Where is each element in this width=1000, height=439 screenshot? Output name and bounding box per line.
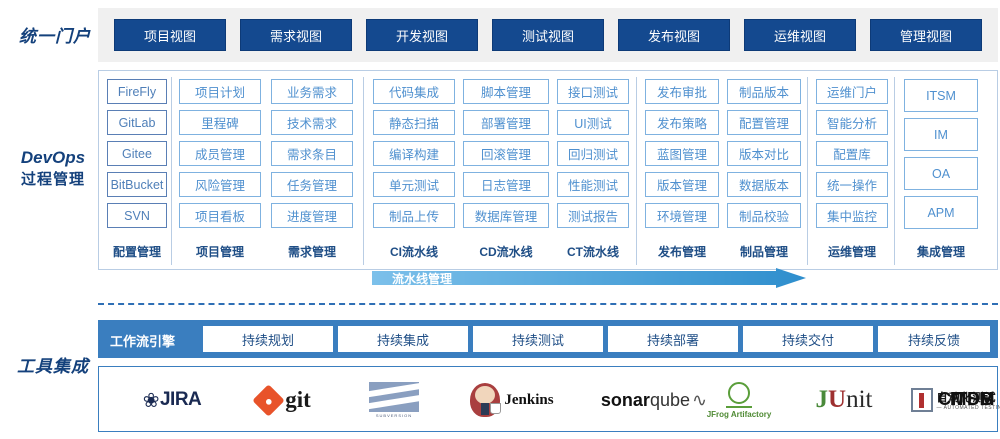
jfrog-logo-text: JFrog Artifactory: [707, 410, 772, 419]
column-title: 项目管理: [179, 243, 261, 260]
cell-item[interactable]: 风险管理: [179, 172, 261, 197]
cell-item[interactable]: IM: [904, 118, 978, 151]
cell-item[interactable]: 回滚管理: [463, 141, 549, 166]
sonarqube-logo-text-bold: sonar: [601, 390, 650, 411]
stage-continuous-testing[interactable]: 持续测试: [473, 326, 603, 352]
portal-button-management[interactable]: 管理视图: [870, 19, 982, 51]
pipeline-arrow-label: 流水线管理: [392, 270, 452, 287]
cell-item[interactable]: 脚本管理: [463, 79, 549, 104]
portal-button-development[interactable]: 开发视图: [366, 19, 478, 51]
column-title: CT流水线: [557, 243, 629, 260]
column-title: 发布管理: [645, 243, 719, 260]
cell-item[interactable]: SVN: [107, 203, 167, 228]
cell-item[interactable]: 配置库: [816, 141, 888, 166]
cell-item[interactable]: 数据库管理: [463, 203, 549, 228]
cell-item[interactable]: 版本对比: [727, 141, 801, 166]
cell-item[interactable]: 编译构建: [373, 141, 455, 166]
cell-item[interactable]: 部署管理: [463, 110, 549, 135]
column-title: 需求管理: [271, 243, 353, 260]
jira-mark-icon: ❀: [143, 388, 159, 413]
stage-continuous-deployment[interactable]: 持续部署: [608, 326, 738, 352]
cell-item[interactable]: 成员管理: [179, 141, 261, 166]
portal-button-release[interactable]: 发布视图: [618, 19, 730, 51]
cell-item[interactable]: 里程碑: [179, 110, 261, 135]
cell-item[interactable]: OA: [904, 157, 978, 190]
portal-button-requirement[interactable]: 需求视图: [240, 19, 352, 51]
cell-item[interactable]: 制品上传: [373, 203, 455, 228]
column-title: CD流水线: [463, 243, 549, 260]
stage-continuous-delivery[interactable]: 持续交付: [743, 326, 873, 352]
jfrog-artifactory-logo[interactable]: JFrog Artifactory: [684, 367, 794, 433]
unified-portal-section: 统一门户 项目视图 需求视图 开发视图 测试视图 发布视图 运维视图 管理视图: [0, 8, 1000, 62]
junit-j-letter: J: [816, 386, 829, 413]
column-requirement-management: 业务需求 技术需求 需求条目 任务管理 进度管理: [271, 79, 353, 228]
devops-label-line1: DevOps: [8, 148, 98, 168]
jenkins-logo[interactable]: Jenkins: [447, 367, 577, 433]
column-ct-pipeline: 接口测试 UI测试 回归测试 性能测试 测试报告: [557, 79, 629, 228]
subversion-logo[interactable]: SUBVERSION: [344, 367, 444, 433]
cell-item[interactable]: 统一操作: [816, 172, 888, 197]
cell-item[interactable]: 数据版本: [727, 172, 801, 197]
cell-item[interactable]: 静态扫描: [373, 110, 455, 135]
cell-item[interactable]: 性能测试: [557, 172, 629, 197]
devops-section-label: DevOps 过程管理: [8, 148, 98, 189]
cell-item[interactable]: 配置管理: [727, 110, 801, 135]
column-title: 运维管理: [816, 243, 888, 260]
cell-item[interactable]: 集中监控: [816, 203, 888, 228]
column-separator: [807, 77, 808, 265]
cell-item[interactable]: 运维门户: [816, 79, 888, 104]
cell-item[interactable]: ITSM: [904, 79, 978, 112]
jira-logo-text: JIRA: [160, 389, 201, 411]
cell-item[interactable]: 单元测试: [373, 172, 455, 197]
cell-item[interactable]: 项目计划: [179, 79, 261, 104]
cell-item[interactable]: GitLab: [107, 110, 167, 135]
column-title: CI流水线: [373, 243, 455, 260]
cell-item[interactable]: 发布审批: [645, 79, 719, 104]
itsm-logo[interactable]: ITSM: [950, 389, 995, 410]
cell-item[interactable]: 业务需求: [271, 79, 353, 104]
jfrog-ring-icon: [728, 382, 750, 404]
column-title: 配置管理: [107, 243, 167, 260]
junit-u-letter: U: [828, 386, 846, 413]
stage-continuous-integration[interactable]: 持续集成: [338, 326, 468, 352]
cell-item[interactable]: 蓝图管理: [645, 141, 719, 166]
column-config-management: FireFly GitLab Gitee BitBucket SVN: [107, 79, 167, 228]
column-ci-pipeline: 代码集成 静态扫描 编译构建 单元测试 制品上传: [373, 79, 455, 228]
cell-item[interactable]: BitBucket: [107, 172, 167, 197]
cell-item[interactable]: UI测试: [557, 110, 629, 135]
workflow-engine-label: 工作流引擎: [110, 331, 175, 350]
devops-label-line2: 过程管理: [8, 168, 98, 189]
workflow-engine-bar: 工作流引擎 持续规划 持续集成 持续测试 持续部署 持续交付 持续反馈: [98, 320, 998, 358]
unified-portal-label: 统一门户: [14, 22, 96, 47]
portal-button-testing[interactable]: 测试视图: [492, 19, 604, 51]
section-divider: [98, 303, 998, 305]
junit-logo-text: nit: [846, 386, 872, 413]
cell-item[interactable]: 制品版本: [727, 79, 801, 104]
cell-item[interactable]: 发布策略: [645, 110, 719, 135]
column-separator: [171, 77, 172, 265]
subversion-mark-icon: [369, 382, 419, 412]
column-integration-management: ITSM IM OA APM: [904, 79, 978, 229]
jenkins-butler-icon: [470, 383, 500, 417]
tools-integration-label: 工具集成: [8, 352, 98, 377]
portal-button-project[interactable]: 项目视图: [114, 19, 226, 51]
git-logo[interactable]: ● git: [229, 367, 339, 433]
cell-item[interactable]: 项目看板: [179, 203, 261, 228]
cell-item[interactable]: 接口测试: [557, 79, 629, 104]
column-separator: [636, 77, 637, 265]
cell-item[interactable]: FireFly: [107, 79, 167, 104]
devops-panel: FireFly GitLab Gitee BitBucket SVN 配置管理 …: [98, 70, 998, 270]
itsm-logo-wrap: ITSM: [925, 366, 995, 432]
cell-item[interactable]: Gitee: [107, 141, 167, 166]
cell-item[interactable]: 制品校验: [727, 203, 801, 228]
column-separator: [363, 77, 364, 265]
jenkins-logo-text: Jenkins: [504, 392, 553, 409]
cell-item[interactable]: 版本管理: [645, 172, 719, 197]
tool-logo-strip: ❀ JIRA ● git SUBVERSION Jenkins sonarqub…: [98, 366, 998, 432]
cell-item[interactable]: APM: [904, 196, 978, 229]
git-logo-text: git: [285, 387, 311, 413]
column-cd-pipeline: 脚本管理 部署管理 回滚管理 日志管理 数据库管理: [463, 79, 549, 228]
jira-logo[interactable]: ❀ JIRA: [117, 367, 227, 433]
stage-continuous-feedback[interactable]: 持续反馈: [878, 326, 990, 352]
subversion-logo-text: SUBVERSION: [376, 413, 412, 418]
cell-item[interactable]: 任务管理: [271, 172, 353, 197]
stage-continuous-planning[interactable]: 持续规划: [203, 326, 333, 352]
jfrog-underline-icon: [726, 406, 752, 408]
cell-item[interactable]: 进度管理: [271, 203, 353, 228]
cell-item[interactable]: 回归测试: [557, 141, 629, 166]
column-separator: [894, 77, 895, 265]
column-title: 集成管理: [904, 243, 978, 260]
cell-item[interactable]: 技术需求: [271, 110, 353, 135]
junit-logo[interactable]: JUnit: [789, 367, 899, 433]
portal-button-operations[interactable]: 运维视图: [744, 19, 856, 51]
cell-item[interactable]: 代码集成: [373, 79, 455, 104]
cell-item[interactable]: 日志管理: [463, 172, 549, 197]
column-release-management: 发布审批 发布策略 蓝图管理 版本管理 环境管理: [645, 79, 719, 228]
git-diamond-icon: ●: [252, 384, 285, 417]
column-title: 制品管理: [727, 243, 801, 260]
cell-item[interactable]: 智能分析: [816, 110, 888, 135]
column-project-management: 项目计划 里程碑 成员管理 风险管理 项目看板: [179, 79, 261, 228]
column-artifact-management: 制品版本 配置管理 版本对比 数据版本 制品校验: [727, 79, 801, 228]
column-operations-management: 运维门户 智能分析 配置库 统一操作 集中监控: [816, 79, 888, 228]
portal-button-strip: 项目视图 需求视图 开发视图 测试视图 发布视图 运维视图 管理视图: [98, 8, 998, 62]
cell-item[interactable]: 需求条目: [271, 141, 353, 166]
cell-item[interactable]: 环境管理: [645, 203, 719, 228]
cell-item[interactable]: 测试报告: [557, 203, 629, 228]
